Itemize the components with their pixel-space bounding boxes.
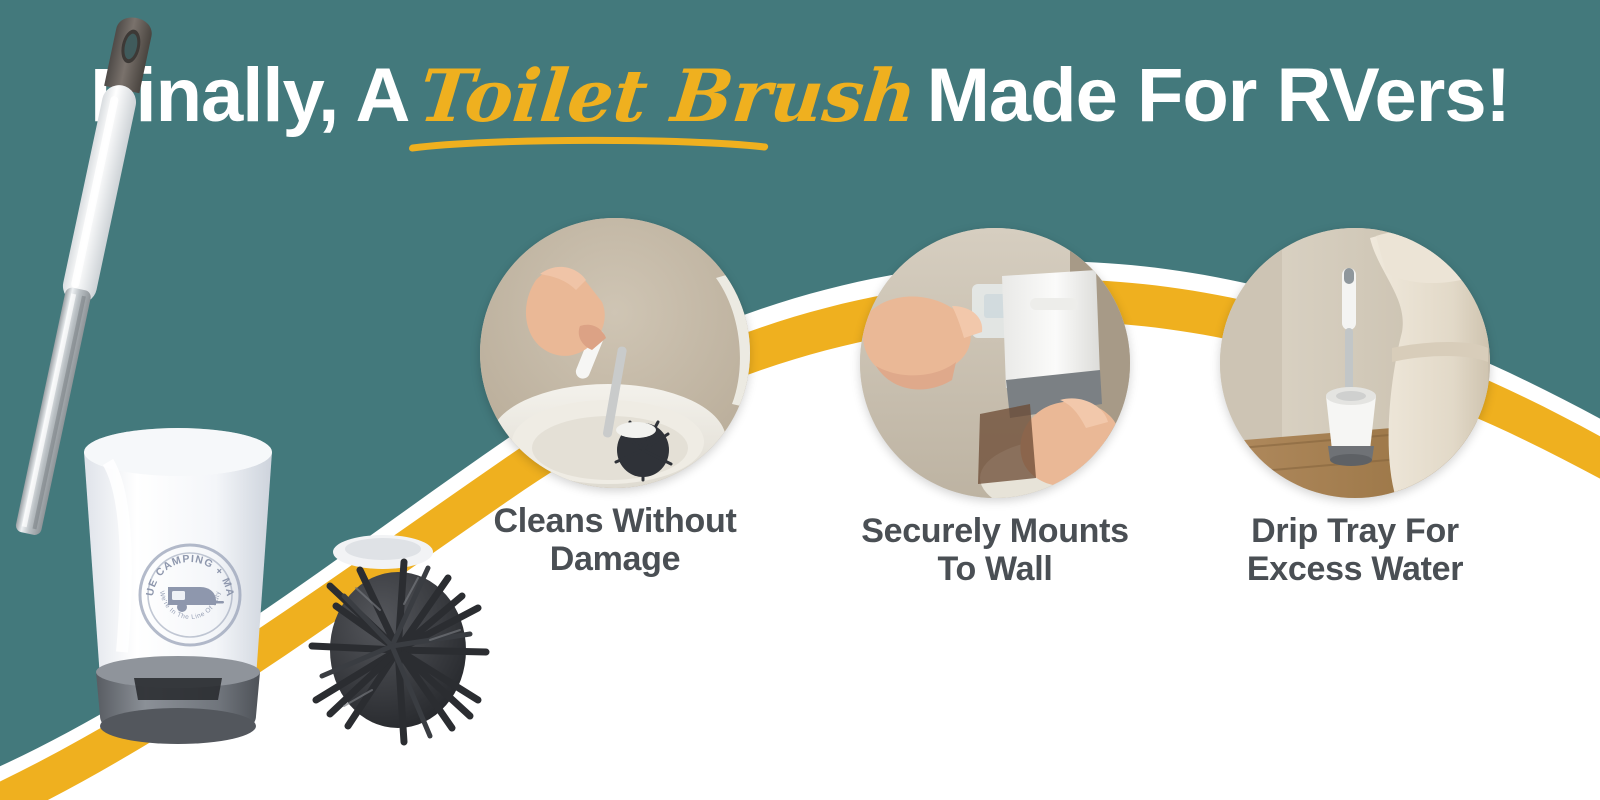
- white-tapered-holder: [84, 428, 272, 678]
- brush-head: [312, 562, 486, 742]
- promo-banner: Finally, A Toilet Brush Made For RVers!: [0, 0, 1600, 800]
- feature-securely-mounts-to-wall: Securely Mounts To Wall: [855, 228, 1135, 588]
- feature-drip-tray-for-excess-water: Drip Tray For Excess Water: [1215, 228, 1495, 588]
- feature-caption-line-1: Securely Mounts: [855, 512, 1135, 550]
- feature-caption-line-1: Drip Tray For: [1215, 512, 1495, 550]
- headline-part-2: Made For RVers!: [927, 53, 1510, 138]
- brush-in-holder-beside-rv-toilet-photo: [1220, 228, 1490, 498]
- hands-mounting-holder-to-wall-photo: [860, 228, 1130, 498]
- feature-caption-line-2: To Wall: [855, 550, 1135, 588]
- gray-drip-tray-base: [96, 656, 260, 744]
- feature-caption-line-2: Excess Water: [1215, 550, 1495, 588]
- product-hero-image: UNIQUE CAMPING + MARINE We're In The Lin…: [0, 0, 560, 800]
- feature-caption: Drip Tray For Excess Water: [1215, 512, 1495, 588]
- feature-caption: Securely Mounts To Wall: [855, 512, 1135, 588]
